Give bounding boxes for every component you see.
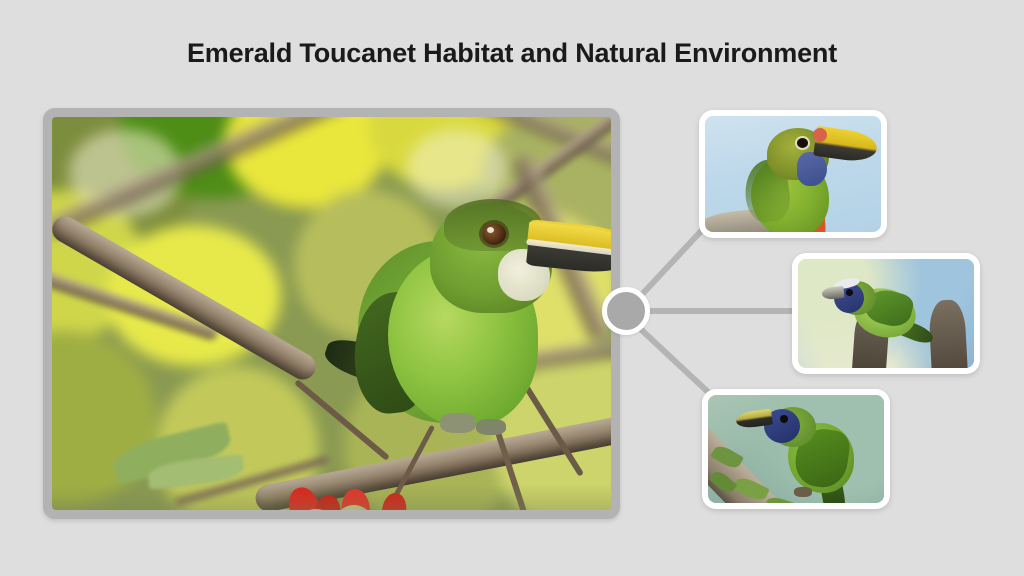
page-title: Emerald Toucanet Habitat and Natural Env… xyxy=(0,38,1024,69)
main-habitat-photo xyxy=(52,117,611,510)
connector-line-to-thumb-1 xyxy=(632,225,707,305)
slide-canvas: Emerald Toucanet Habitat and Natural Env… xyxy=(0,0,1024,576)
connector-line-to-thumb-2 xyxy=(638,308,798,314)
connector-hub-node[interactable] xyxy=(602,287,650,335)
thumbnail-toucanet-mossy-stump[interactable] xyxy=(792,253,980,374)
emerald-toucanet-main xyxy=(352,197,611,467)
main-image-frame[interactable] xyxy=(43,108,620,519)
thumbnail-toucanet-sky[interactable] xyxy=(699,110,887,238)
thumbnail-toucanet-mossy-branch[interactable] xyxy=(702,389,890,509)
